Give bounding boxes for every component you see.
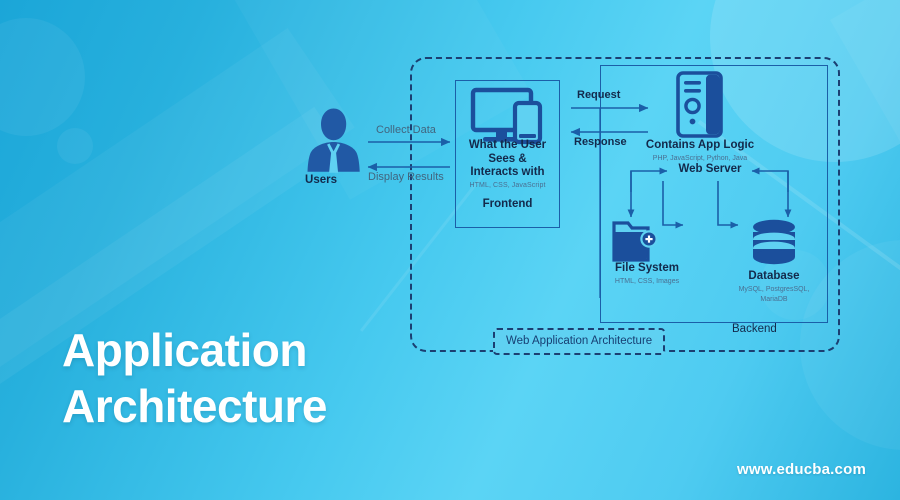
architecture-title-badge: Web Application Architecture	[493, 328, 665, 355]
slide-canvas: Users Collect Data Display Results Reque…	[0, 0, 900, 500]
file-system-node: File System HTML, CSS, Images	[593, 262, 701, 286]
file-system-label: File System	[593, 262, 701, 276]
frontend-line-2: Sees &	[456, 153, 559, 167]
database-technologies-line-1: MySQL, PostgresSQL,	[717, 285, 831, 294]
server-tower-icon	[678, 73, 721, 136]
flow-label-request: Request	[577, 89, 620, 101]
page-title: Application Architecture	[62, 322, 327, 434]
app-logic-node: Contains App Logic PHP, JavaScript, Pyth…	[630, 139, 770, 163]
flow-label-display-results: Display Results	[368, 171, 444, 183]
database-label: Database	[717, 270, 831, 284]
frontend-line-3: Interacts with	[456, 166, 559, 180]
backend-tier-label: Backend	[732, 323, 777, 335]
database-node: Database MySQL, PostgresSQL, MariaDB	[717, 270, 831, 304]
frontend-tier-label: Frontend	[456, 198, 559, 212]
frontend-line-1: What the User	[456, 139, 559, 153]
users-label: Users	[290, 174, 352, 186]
database-technologies-line-2: MariaDB	[717, 295, 831, 304]
users-actor: Users	[290, 112, 352, 186]
frontend-tier-box: What the User Sees & Interacts with HTML…	[455, 80, 560, 228]
frontend-technologies: HTML, CSS, JavaScript	[456, 181, 559, 190]
arrow-webserver-inner-left	[663, 181, 683, 225]
arrow-filesystem-to-webserver	[631, 171, 667, 192]
decorative-circle	[0, 18, 85, 136]
flow-label-collect-data: Collect Data	[376, 124, 436, 136]
flow-label-response: Response	[574, 136, 627, 148]
app-logic-label: Contains App Logic	[630, 139, 770, 153]
folder-plus-icon	[614, 223, 657, 260]
site-watermark: www.educba.com	[737, 461, 866, 478]
page-title-line-2: Architecture	[62, 378, 327, 434]
arrow-webserver-inner-right	[718, 181, 738, 225]
web-server-node: Web Server	[669, 163, 751, 177]
page-title-line-1: Application	[62, 322, 327, 378]
web-server-label: Web Server	[669, 163, 751, 177]
app-logic-technologies: PHP, JavaScript, Python, Java	[630, 154, 770, 163]
file-system-technologies: HTML, CSS, Images	[593, 277, 701, 286]
database-cylinder-icon	[753, 220, 795, 264]
arrow-database-to-webserver	[752, 171, 788, 192]
web-application-architecture-diagram: Users Collect Data Display Results Reque…	[280, 40, 880, 380]
decorative-circle	[57, 128, 93, 164]
